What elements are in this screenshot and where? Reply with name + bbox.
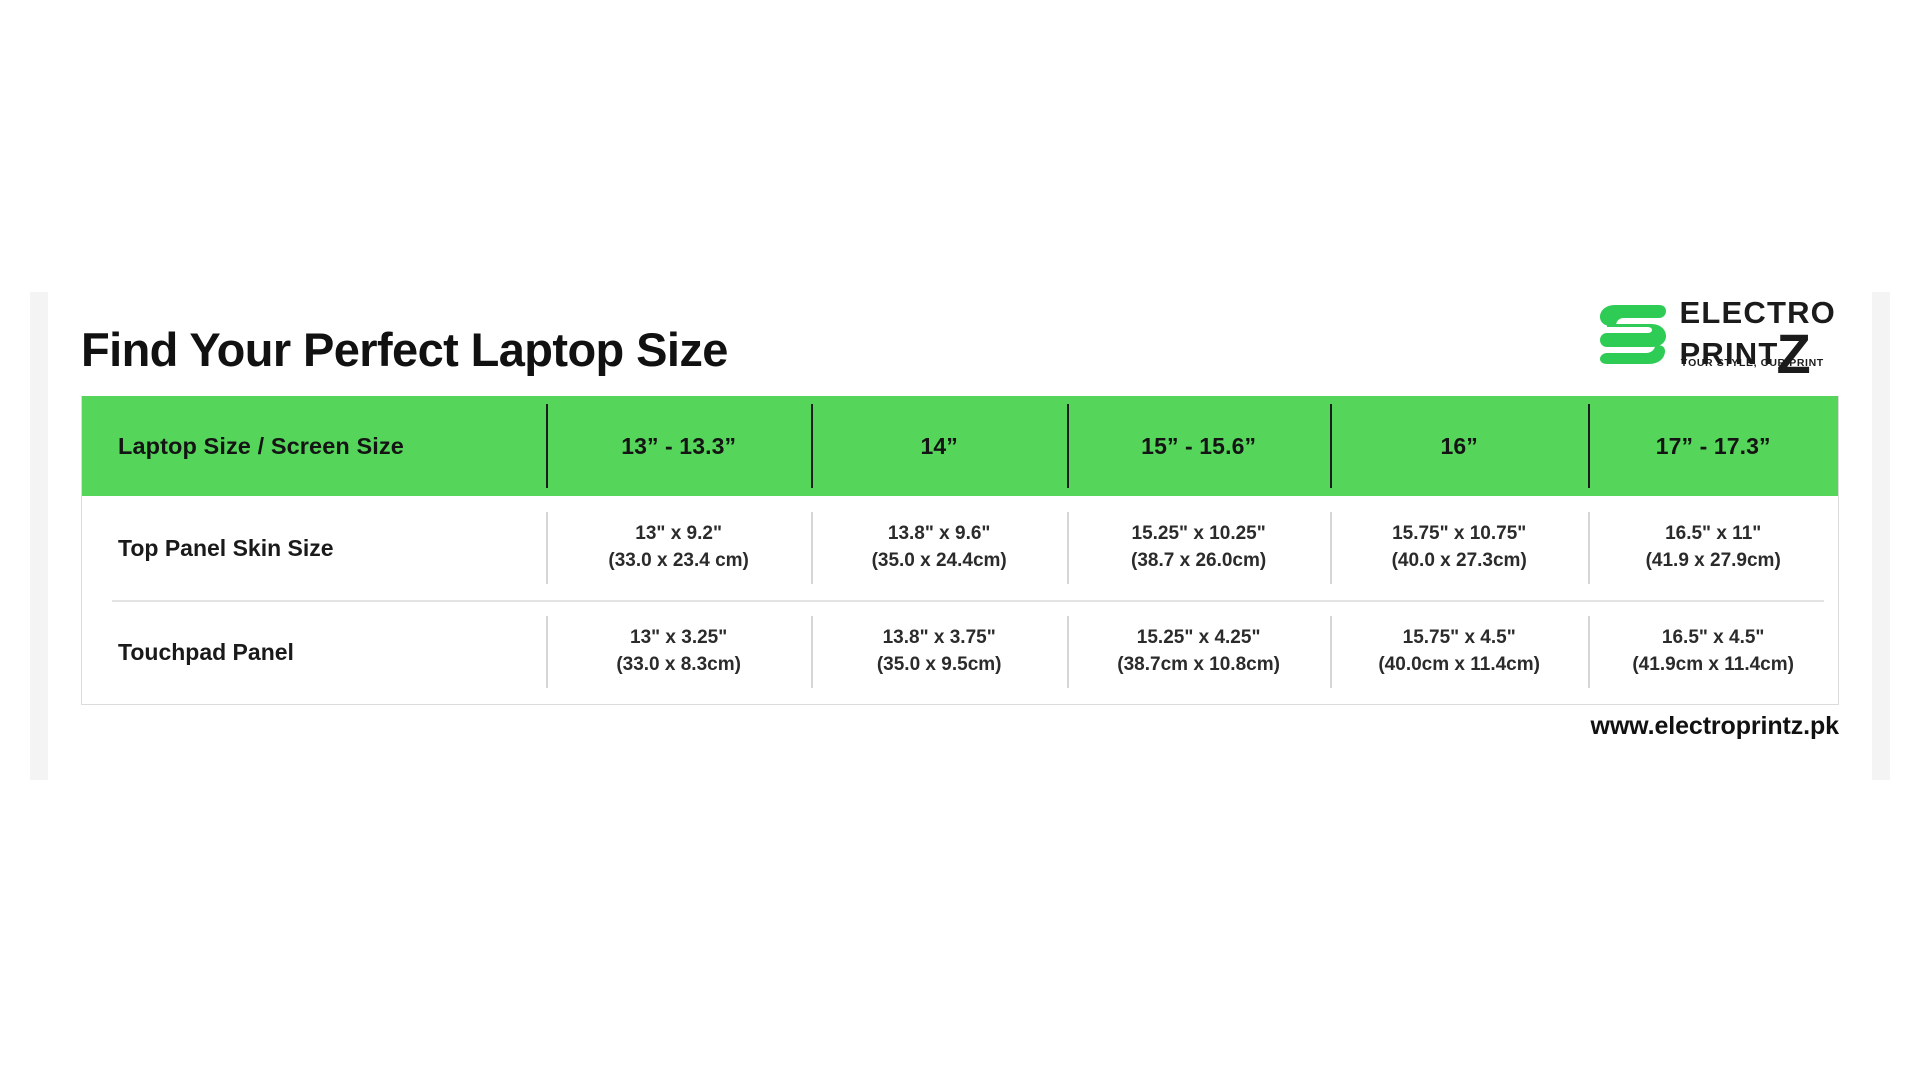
cell-inches: 15.25" x 10.25" bbox=[1067, 521, 1330, 548]
cell-touchpad-15: 15.25" x 4.25" (38.7cm x 10.8cm) bbox=[1067, 600, 1330, 704]
column-header-14: 14” bbox=[811, 396, 1067, 496]
cell-inches: 16.5" x 11" bbox=[1588, 521, 1838, 548]
cell-centimeters: (40.0cm x 11.4cm) bbox=[1330, 652, 1588, 679]
cell-inches: 13" x 3.25" bbox=[546, 625, 811, 652]
cell-centimeters: (35.0 x 24.4cm) bbox=[811, 548, 1067, 575]
cell-centimeters: (40.0 x 27.3cm) bbox=[1330, 548, 1588, 575]
brand-logo: ELECTRO PRINT Z YOUR STYLE, OUR PRINT bbox=[1599, 295, 1842, 371]
table-row: Top Panel Skin Size 13" x 9.2" (33.0 x 2… bbox=[82, 496, 1838, 600]
cell-inches: 15.75" x 10.75" bbox=[1330, 521, 1588, 548]
page-title: Find Your Perfect Laptop Size bbox=[81, 322, 728, 377]
cell-centimeters: (35.0 x 9.5cm) bbox=[811, 652, 1067, 679]
website-url[interactable]: www.electroprintz.pk bbox=[1590, 712, 1839, 741]
electroprintz-s-mark-icon bbox=[1599, 300, 1667, 366]
cell-inches: 13.8" x 9.6" bbox=[811, 521, 1067, 548]
table-row: Touchpad Panel 13" x 3.25" (33.0 x 8.3cm… bbox=[82, 600, 1838, 704]
brand-line-electro: ELECTRO bbox=[1679, 299, 1836, 328]
cell-top-panel-13: 13" x 9.2" (33.0 x 23.4 cm) bbox=[546, 496, 811, 600]
cell-touchpad-16: 15.75" x 4.5" (40.0cm x 11.4cm) bbox=[1330, 600, 1588, 704]
cell-inches: 16.5" x 4.5" bbox=[1588, 625, 1838, 652]
row-label-touchpad-panel: Touchpad Panel bbox=[82, 600, 546, 704]
cell-top-panel-17: 16.5" x 11" (41.9 x 27.9cm) bbox=[1588, 496, 1838, 600]
right-gutter-band bbox=[1872, 292, 1890, 780]
cell-centimeters: (41.9cm x 11.4cm) bbox=[1588, 652, 1838, 679]
cell-inches: 13" x 9.2" bbox=[546, 521, 811, 548]
cell-touchpad-13: 13" x 3.25" (33.0 x 8.3cm) bbox=[546, 600, 811, 704]
cell-touchpad-14: 13.8" x 3.75" (35.0 x 9.5cm) bbox=[811, 600, 1067, 704]
table-header-row: Laptop Size / Screen Size 13” - 13.3” 14… bbox=[82, 396, 1838, 496]
laptop-size-table-wrapper: Laptop Size / Screen Size 13” - 13.3” 14… bbox=[81, 396, 1839, 705]
column-header-17: 17” - 17.3” bbox=[1588, 396, 1838, 496]
row-label-top-panel: Top Panel Skin Size bbox=[82, 496, 546, 600]
column-header-16: 16” bbox=[1330, 396, 1588, 496]
brand-wordmark: ELECTRO PRINT Z YOUR STYLE, OUR PRINT bbox=[1679, 300, 1842, 366]
page-root: Find Your Perfect Laptop Size ELECTRO PR… bbox=[0, 0, 1920, 1080]
cell-top-panel-14: 13.8" x 9.6" (35.0 x 24.4cm) bbox=[811, 496, 1067, 600]
cell-touchpad-17: 16.5" x 4.5" (41.9cm x 11.4cm) bbox=[1588, 600, 1838, 704]
left-gutter-band bbox=[30, 292, 48, 780]
cell-inches: 15.75" x 4.5" bbox=[1330, 625, 1588, 652]
cell-centimeters: (41.9 x 27.9cm) bbox=[1588, 548, 1838, 575]
column-header-label: Laptop Size / Screen Size bbox=[82, 396, 546, 496]
column-header-13: 13” - 13.3” bbox=[546, 396, 811, 496]
cell-inches: 13.8" x 3.75" bbox=[811, 625, 1067, 652]
brand-tagline: YOUR STYLE, OUR PRINT bbox=[1680, 357, 1823, 369]
card-header: Find Your Perfect Laptop Size ELECTRO PR… bbox=[48, 292, 1872, 396]
column-header-15: 15” - 15.6” bbox=[1067, 396, 1330, 496]
cell-centimeters: (33.0 x 23.4 cm) bbox=[546, 548, 811, 575]
laptop-size-table: Laptop Size / Screen Size 13” - 13.3” 14… bbox=[82, 396, 1838, 704]
cell-top-panel-15: 15.25" x 10.25" (38.7 x 26.0cm) bbox=[1067, 496, 1330, 600]
size-chart-card: Find Your Perfect Laptop Size ELECTRO PR… bbox=[48, 292, 1872, 780]
cell-centimeters: (33.0 x 8.3cm) bbox=[546, 652, 811, 679]
cell-centimeters: (38.7cm x 10.8cm) bbox=[1067, 652, 1330, 679]
cell-centimeters: (38.7 x 26.0cm) bbox=[1067, 548, 1330, 575]
cell-inches: 15.25" x 4.25" bbox=[1067, 625, 1330, 652]
cell-top-panel-16: 15.75" x 10.75" (40.0 x 27.3cm) bbox=[1330, 496, 1588, 600]
